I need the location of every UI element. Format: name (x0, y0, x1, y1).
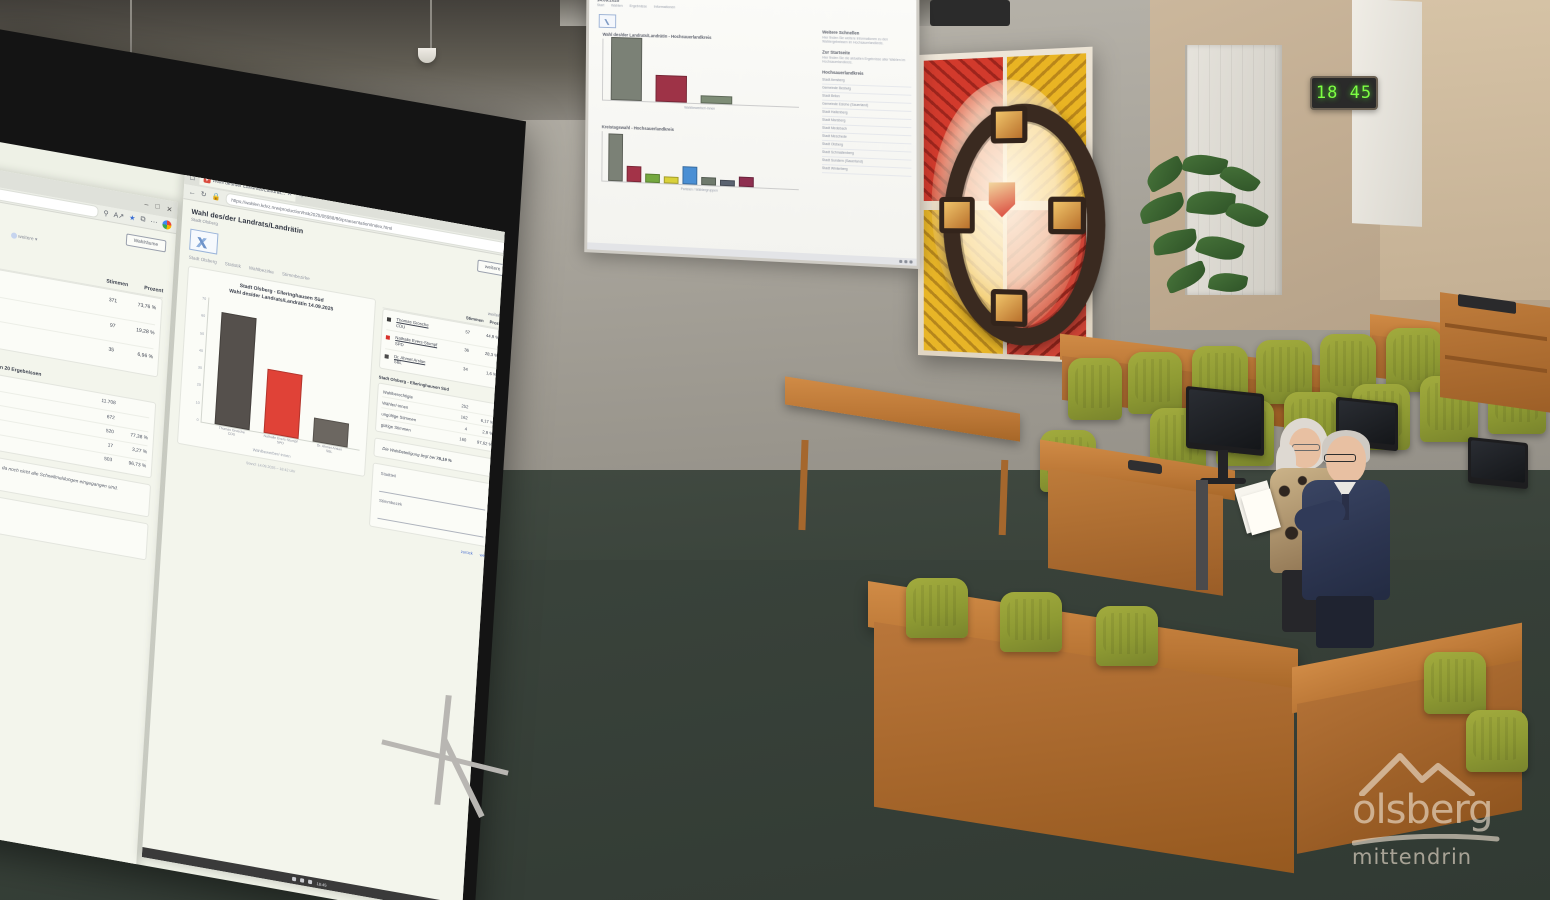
candidate-percent: 19,28 % (120, 324, 154, 336)
lamp-cord-2 (430, 0, 432, 50)
candidate-votes: 371 (91, 294, 117, 305)
glasses-icon (1324, 454, 1356, 462)
chair (1466, 710, 1528, 772)
taskbar-icon[interactable] (909, 260, 912, 263)
bar-label: Nathalie Evers-StumpfSPD (263, 434, 297, 449)
projection-nav-item[interactable]: Wahlen (611, 4, 623, 8)
candidate-percent: 28,3 % (474, 349, 498, 358)
screen-tripod (270, 695, 530, 895)
candidate-percent: 6,96 % (119, 349, 153, 361)
lock-icon: 🔒 (211, 192, 220, 202)
nav-item-wahlbezirke[interactable]: Wahlbezirke (249, 265, 274, 274)
candidate-party: SPD (395, 341, 404, 348)
summary-percent (115, 416, 149, 428)
y-tick: 50 (200, 331, 204, 336)
projection-chart-landrat: Wahl des/der Landrats/Landrätin - Hochsa… (602, 32, 799, 114)
summary-percent: 2,9 % (467, 426, 493, 436)
candidate-votes: 35 (88, 343, 114, 354)
candidate-percent: 1,6 % (473, 368, 497, 377)
projection-nav-item[interactable]: Start (597, 3, 604, 7)
summary-percent: 3,27 % (113, 444, 147, 456)
candidate-party: SBL (394, 359, 402, 365)
read-aloud-icon[interactable]: A↗ (113, 211, 124, 221)
weitere-button[interactable]: weitere (476, 259, 504, 277)
chair (1424, 652, 1486, 714)
taskbar-icon[interactable] (904, 260, 907, 263)
header-votes: Stimmen (106, 279, 128, 289)
legs (1316, 596, 1374, 648)
page-content-left: 14.09.2025 ‣ Stadt Olsberg ‣ Wahlräume w… (0, 181, 176, 576)
right-door (1352, 0, 1422, 227)
candidate-percent: 73,76 % (122, 300, 156, 312)
wahlraeume-button[interactable]: Wahlräume (125, 233, 166, 252)
bar-arslan: Dr. Ahmet ArslanSBL (312, 417, 349, 447)
nav-item-stimmbezirke[interactable]: Stimmbezirke (282, 271, 310, 281)
y-tick: 10 (196, 400, 200, 405)
summary-value: 503 (82, 453, 112, 465)
sidebar-block-text: Hier finden Sie die aktuellen Ergebnisse… (822, 55, 911, 67)
candidate-votes: 97 (89, 319, 115, 330)
favorites-icon[interactable]: ★ (129, 214, 136, 223)
bar (682, 166, 697, 185)
y-tick: 70 (202, 296, 206, 301)
nav-item-statistik[interactable]: Statistik (225, 261, 241, 269)
summary-value: 672 (85, 411, 115, 423)
kdvz-logo-icon (599, 14, 617, 28)
projection-nav-item[interactable]: Informationen (654, 5, 675, 10)
bar (611, 37, 643, 101)
reload-icon[interactable]: ↻ (200, 190, 206, 199)
summary-value: 17 (83, 439, 113, 451)
monitor (1186, 386, 1264, 456)
summary-percent (468, 404, 494, 414)
chart-plot-area: Thomas GroscheCDU Nathalie Evers-StumpfS… (200, 298, 367, 451)
bar (608, 133, 623, 181)
candidate-votes: 57 (452, 327, 470, 335)
candidate-percent: 44,9 % (475, 331, 499, 340)
council-chamber-photo: 18 45 14.09.2025 Start Wahlen Ergeb (0, 0, 1550, 900)
y-tick: 0 (196, 418, 198, 422)
nav-item-stadt[interactable]: Stadt Olsberg (189, 255, 217, 265)
summary-value: 4 (447, 422, 467, 431)
y-tick: 30 (198, 366, 202, 371)
bar-evers-stumpf: Nathalie Evers-StumpfSPD (263, 369, 302, 439)
kdvz-logo-icon (189, 229, 218, 255)
chair (1068, 358, 1122, 420)
y-tick: 40 (199, 348, 203, 353)
summary-percent: 97,62 % (466, 437, 492, 447)
chair (906, 578, 968, 638)
close-icon[interactable]: ✕ (166, 205, 172, 214)
monitor (1468, 437, 1528, 489)
collections-icon[interactable]: ⧉ (140, 216, 146, 225)
wall-projection-screen: 14.09.2025 Start Wahlen Ergebnisse Infor… (584, 0, 919, 269)
potted-plant (1135, 155, 1285, 340)
info-icon (11, 232, 17, 239)
monitor-pole (1196, 480, 1208, 590)
candidate-votes: 36 (451, 345, 469, 353)
taskbar-icon[interactable] (899, 260, 902, 263)
bar (701, 95, 733, 104)
summary-value: 162 (448, 411, 468, 420)
wall-clock: 18 45 (1310, 76, 1378, 110)
chair (1128, 352, 1182, 414)
monitor-stand (1218, 450, 1228, 480)
party-color-swatch (387, 317, 391, 322)
back-icon[interactable]: ← (189, 188, 196, 196)
summary-value: 160 (446, 433, 466, 442)
bar (720, 180, 735, 187)
bar (664, 176, 679, 184)
chair (1096, 606, 1158, 666)
summary-value: 252 (448, 400, 468, 409)
projection-nav-item[interactable]: Ergebnisse (629, 4, 646, 8)
summary-percent: 96,73 % (112, 459, 146, 471)
projection-sidebar: Weitere Schnellen Hier finden Sie weiter… (822, 29, 911, 176)
summary-percent: 6,17 % (468, 415, 494, 425)
more-icon[interactable]: ⋯ (150, 217, 158, 226)
party-color-swatch (386, 336, 390, 341)
projector-screen: ✕ ☉ Neu + – □ ✕ ← ↻ s.html?w... ⚲ (0, 75, 510, 900)
bar (701, 177, 716, 186)
bar (739, 177, 754, 188)
wall-vent (930, 0, 1010, 26)
minimize-icon[interactable]: – (144, 201, 148, 209)
stained-glass-artwork (918, 47, 1093, 364)
bar (645, 174, 660, 184)
y-tick: 60 (201, 314, 205, 319)
bar (627, 166, 642, 183)
bar-label: Dr. Ahmet ArslanSBL (316, 443, 342, 456)
page-content-right: Wahl des/der Landrats/Landrätin Stadt Ol… (164, 199, 505, 569)
clock-time: 18 45 (1316, 83, 1372, 103)
summary-value: 520 (84, 425, 114, 437)
window-controls-left: – □ ✕ (144, 201, 173, 214)
bar-grosche: Thomas GroscheCDU (214, 312, 256, 430)
district-bar-chart: Stadt Olsberg - Elleringhausen Süd Wahl … (177, 266, 377, 478)
y-tick: 20 (197, 383, 201, 388)
sidebar-block-text: Hier finden Sie weitere Informationen zu… (822, 35, 911, 47)
projection-chart-kreistag: Kreistagswahl - Hochsauerlandkreis Parte… (601, 124, 799, 196)
bar-label: Thomas GroscheCDU (218, 426, 245, 439)
summary-percent: 77,38 % (114, 430, 148, 442)
person-man (1300, 428, 1396, 646)
chair (1000, 592, 1062, 652)
summary-value: 11.708 (85, 396, 115, 408)
bar (655, 75, 687, 103)
link-zurueck[interactable]: zurück (461, 549, 473, 556)
profile-avatar-icon[interactable] (162, 219, 172, 230)
summary-percent (115, 402, 149, 414)
turnout-value: 78,19 % (436, 455, 452, 463)
maximize-icon[interactable]: □ (155, 203, 160, 211)
search-icon[interactable]: ⚲ (103, 209, 109, 218)
header-percent: Prozent (144, 285, 163, 294)
candidate-votes: 34 (450, 363, 468, 371)
party-color-swatch (385, 354, 389, 359)
candidate-party: CDU (396, 323, 405, 330)
chevron-down-icon[interactable]: ▾ (35, 238, 38, 243)
more-link[interactable]: weitere (18, 235, 34, 243)
